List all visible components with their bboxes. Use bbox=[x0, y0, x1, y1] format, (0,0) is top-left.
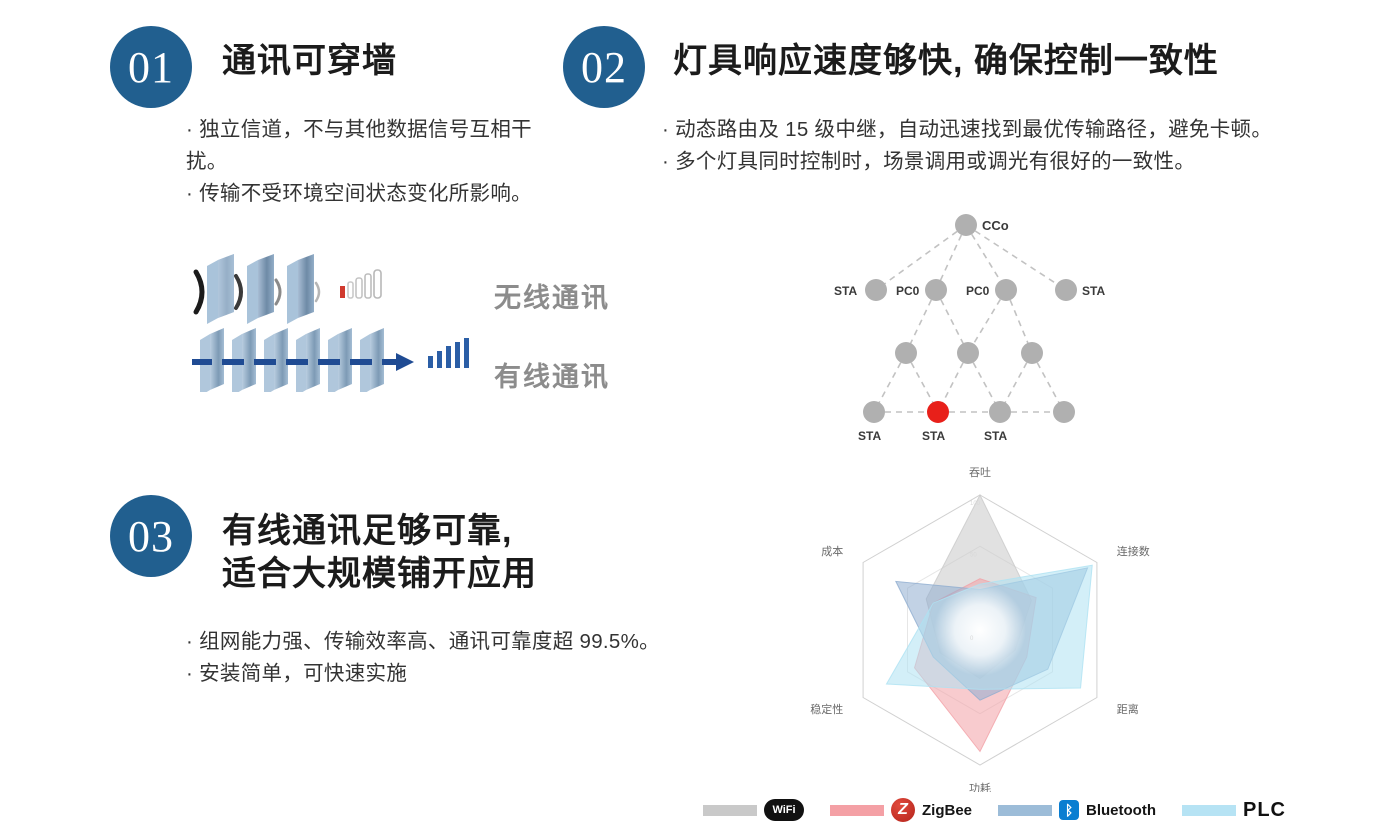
legend-swatch-plc bbox=[1182, 805, 1236, 816]
radar-tick-1: 50 bbox=[970, 552, 977, 558]
section-body-03: · 组网能力强、传输效率高、通讯可靠度超 99.5%。 · 安装简单，可快速实施 bbox=[186, 626, 806, 690]
node-sta-right bbox=[1055, 279, 1077, 301]
slide-root: 01 通讯可穿墙 · 独立信道，不与其他数据信号互相干扰。 · 传输不受环境空间… bbox=[0, 0, 1400, 839]
section-number-03: 03 bbox=[128, 511, 174, 562]
section-body-02: · 动态路由及 15 级中继，自动迅速找到最优传输路径，避免卡顿。 · 多个灯具… bbox=[662, 114, 1294, 178]
radar-center-glow bbox=[934, 584, 1026, 676]
label-sta-right: STA bbox=[1082, 284, 1105, 298]
topology-links bbox=[874, 225, 1066, 412]
radar-tick-0: 100 bbox=[970, 501, 981, 507]
node-bottom-1 bbox=[863, 401, 885, 423]
node-bottom-highlighted bbox=[927, 401, 949, 423]
zigbee-icon: Z bbox=[891, 798, 915, 822]
label-cco: CCo bbox=[982, 218, 1009, 233]
plc-icon: PLC bbox=[1243, 799, 1286, 822]
node-sta-left bbox=[865, 279, 887, 301]
section-number-02: 02 bbox=[581, 42, 627, 93]
wifi-icon: WiFi bbox=[764, 799, 804, 821]
bluetooth-icon: ᛒ bbox=[1059, 800, 1079, 820]
legend-label-zigbee: ZigBee bbox=[922, 802, 972, 819]
label-sta-left: STA bbox=[834, 284, 857, 298]
node-bottom-4 bbox=[1053, 401, 1075, 423]
label-pc0-1: PC0 bbox=[896, 284, 920, 298]
legend-item-bluetooth[interactable]: ᛒ Bluetooth bbox=[998, 800, 1156, 820]
radar-axis-label-4: 稳定性 bbox=[810, 702, 843, 716]
wired-arrowhead bbox=[396, 353, 414, 371]
bullet-02-2: · 多个灯具同时控制时，场景调用或调光有很好的一致性。 bbox=[662, 146, 1294, 178]
section-body-01: · 独立信道，不与其他数据信号互相干扰。 · 传输不受环境空间状态变化所影响。 bbox=[186, 114, 536, 209]
radar-axis-label-2: 距离 bbox=[1117, 702, 1139, 716]
radar-axis-label-5: 成本 bbox=[821, 544, 843, 558]
chart-legend: WiFi Z ZigBee ᛒ Bluetooth PLC bbox=[703, 798, 1312, 822]
radar-axis-label-0: 吞吐 bbox=[969, 466, 991, 479]
label-sta-bottom-1: STA bbox=[858, 429, 881, 443]
node-mid-1 bbox=[895, 342, 917, 364]
wired-comm-label: 有线通讯 bbox=[494, 355, 610, 394]
section-badge-03: 03 bbox=[110, 495, 192, 577]
wired-signal-bars bbox=[428, 338, 469, 368]
radar-axis-label-3: 功耗 bbox=[969, 782, 991, 792]
node-pc0-1 bbox=[925, 279, 947, 301]
wireless-comm-label: 无线通讯 bbox=[494, 276, 610, 315]
radar-axis-label-1: 连接数 bbox=[1117, 545, 1150, 558]
label-sta-bottom-2: STA bbox=[922, 429, 945, 443]
legend-swatch-zigbee bbox=[830, 805, 884, 816]
node-mid-3 bbox=[1021, 342, 1043, 364]
wireless-walls bbox=[207, 254, 314, 324]
section-number-01: 01 bbox=[128, 42, 174, 93]
bullet-01-1: · 独立信道，不与其他数据信号互相干扰。 bbox=[186, 114, 536, 178]
bullet-02-1: · 动态路由及 15 级中继，自动迅速找到最优传输路径，避免卡顿。 bbox=[662, 114, 1294, 146]
label-pc0-2: PC0 bbox=[966, 284, 990, 298]
node-bottom-3 bbox=[989, 401, 1011, 423]
label-sta-bottom-3: STA bbox=[984, 429, 1007, 443]
node-pc0-2 bbox=[995, 279, 1017, 301]
mesh-topology-diagram: CCo STA PC0 PC0 STA STA STA STA bbox=[820, 205, 1130, 450]
bullet-03-1: · 组网能力强、传输效率高、通讯可靠度超 99.5%。 bbox=[186, 626, 806, 658]
wall-penetration-illustration bbox=[190, 252, 490, 392]
radar-chart: 100500 吞吐连接数距离功耗稳定性成本 bbox=[790, 462, 1170, 792]
node-cco bbox=[955, 214, 977, 236]
legend-swatch-bluetooth bbox=[998, 805, 1052, 816]
section-title-03: 有线通讯足够可靠, 适合大规模铺开应用 bbox=[222, 510, 537, 595]
legend-item-wifi[interactable]: WiFi bbox=[703, 799, 804, 821]
bullet-01-2: · 传输不受环境空间状态变化所影响。 bbox=[186, 178, 536, 210]
topology-nodes bbox=[863, 214, 1077, 423]
bullet-03-2: · 安装简单，可快速实施 bbox=[186, 658, 806, 690]
legend-swatch-wifi bbox=[703, 805, 757, 816]
wireless-signal-bars bbox=[340, 270, 381, 298]
node-mid-2 bbox=[957, 342, 979, 364]
legend-item-zigbee[interactable]: Z ZigBee bbox=[830, 798, 972, 822]
section-title-02: 灯具响应速度够快, 确保控制一致性 bbox=[673, 40, 1219, 83]
section-badge-01: 01 bbox=[110, 26, 192, 108]
legend-item-plc[interactable]: PLC bbox=[1182, 799, 1286, 822]
section-badge-02: 02 bbox=[563, 26, 645, 108]
legend-label-bluetooth: Bluetooth bbox=[1086, 802, 1156, 819]
section-title-01: 通讯可穿墙 bbox=[222, 40, 397, 83]
